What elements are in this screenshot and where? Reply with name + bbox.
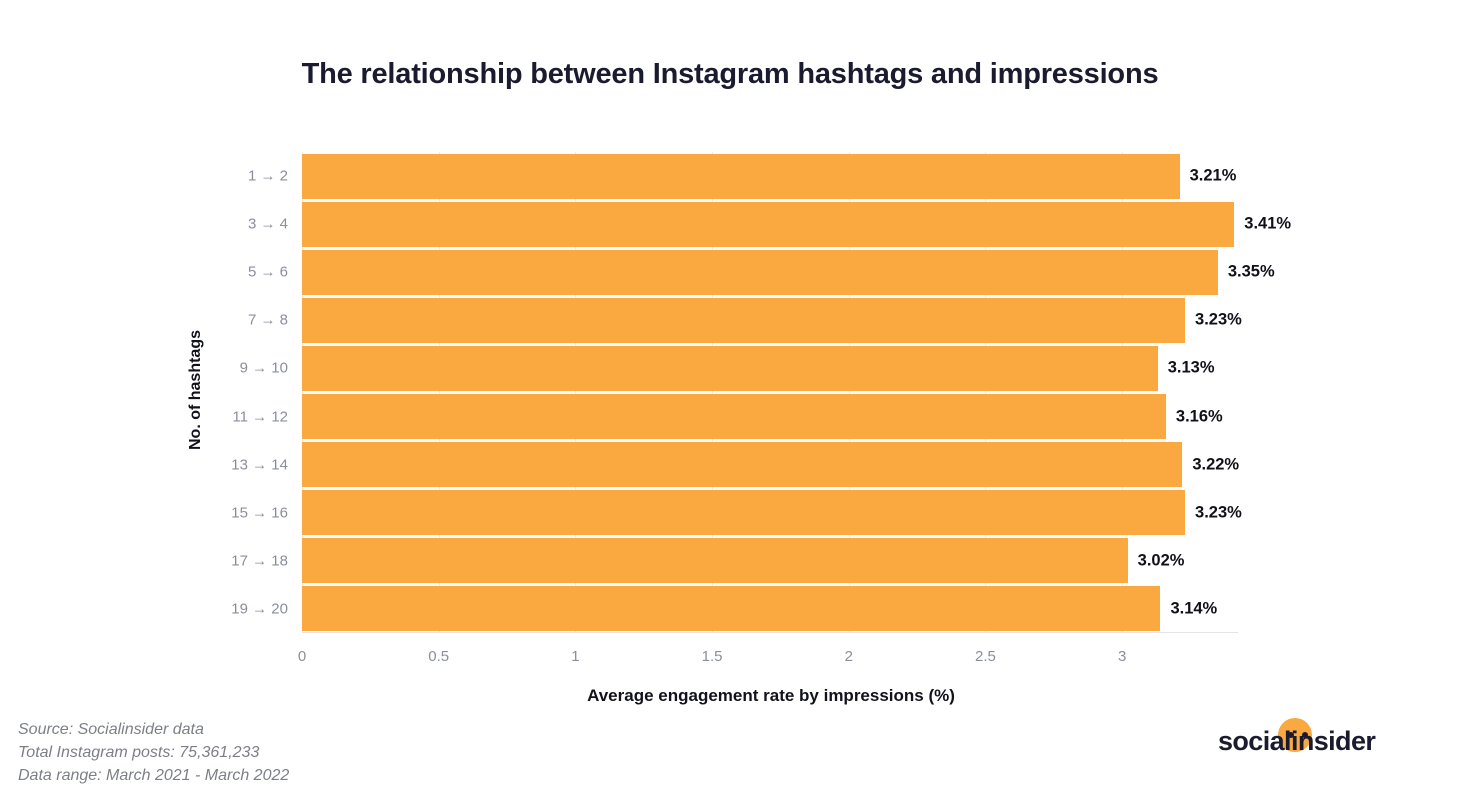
bar[interactable]: [302, 250, 1218, 295]
socialinsider-logo: socialinsider: [1218, 716, 1438, 772]
chart-canvas: No. of hashtags 3.21%3.41%3.35%3.23%3.13…: [0, 0, 1460, 800]
bar-value-label: 3.23%: [1195, 503, 1242, 522]
plot-area: 3.21%3.41%3.35%3.23%3.13%3.16%3.22%3.23%…: [302, 152, 1237, 633]
logo-wordmark: socialinsider: [1218, 726, 1375, 757]
bar-row[interactable]: 3.23%: [302, 298, 1237, 343]
bar-row[interactable]: 3.35%: [302, 250, 1237, 295]
bar-value-label: 3.13%: [1168, 359, 1215, 378]
footer-notes: Source: Socialinsider data Total Instagr…: [18, 718, 289, 787]
bar-row[interactable]: 3.22%: [302, 442, 1237, 487]
y-tick-label: 15 → 16: [88, 504, 288, 521]
bar[interactable]: [302, 394, 1166, 439]
bar-value-label: 3.02%: [1138, 551, 1185, 570]
bar-row[interactable]: 3.21%: [302, 154, 1237, 199]
y-tick-label: 1 → 2: [88, 168, 288, 185]
bar-row[interactable]: 3.23%: [302, 490, 1237, 535]
x-tick-label: 2: [845, 648, 853, 665]
x-tick-label: 1.5: [702, 648, 723, 665]
bar-value-label: 3.35%: [1228, 263, 1275, 282]
x-tick-label: 2.5: [975, 648, 996, 665]
bar-value-label: 3.23%: [1195, 311, 1242, 330]
y-tick-label: 7 → 8: [88, 312, 288, 329]
chart-page: The relationship between Instagram hasht…: [0, 0, 1460, 800]
x-tick-label: 0: [298, 648, 306, 665]
y-tick-label: 13 → 14: [88, 456, 288, 473]
bar-value-label: 3.16%: [1176, 407, 1223, 426]
bar[interactable]: [302, 538, 1128, 583]
footer-data-range: Data range: March 2021 - March 2022: [18, 764, 289, 787]
y-tick-label: 3 → 4: [88, 216, 288, 233]
bar-value-label: 3.14%: [1170, 599, 1217, 618]
bar-value-label: 3.22%: [1192, 455, 1239, 474]
y-axis-title: No. of hashtags: [187, 330, 205, 450]
bar[interactable]: [302, 586, 1160, 631]
x-axis-baseline: [302, 632, 1238, 633]
x-axis-title: Average engagement rate by impressions (…: [0, 686, 1460, 706]
y-tick-label: 5 → 6: [88, 264, 288, 281]
bar[interactable]: [302, 346, 1158, 391]
bar[interactable]: [302, 442, 1182, 487]
y-tick-label: 19 → 20: [88, 600, 288, 617]
footer-total-posts: Total Instagram posts: 75,361,233: [18, 741, 289, 764]
bar[interactable]: [302, 298, 1185, 343]
bar-row[interactable]: 3.41%: [302, 202, 1237, 247]
bar-row[interactable]: 3.16%: [302, 394, 1237, 439]
footer-source: Source: Socialinsider data: [18, 718, 289, 741]
x-tick-label: 0.5: [428, 648, 449, 665]
bar-row[interactable]: 3.02%: [302, 538, 1237, 583]
bar-value-label: 3.21%: [1190, 167, 1237, 186]
y-tick-label: 9 → 10: [88, 360, 288, 377]
x-tick-label: 1: [571, 648, 579, 665]
x-tick-label: 3: [1118, 648, 1126, 665]
bar[interactable]: [302, 490, 1185, 535]
bar[interactable]: [302, 202, 1234, 247]
bar-row[interactable]: 3.14%: [302, 586, 1237, 631]
bar-row[interactable]: 3.13%: [302, 346, 1237, 391]
y-tick-label: 11 → 12: [88, 408, 288, 425]
y-tick-label: 17 → 18: [88, 552, 288, 569]
bar[interactable]: [302, 154, 1180, 199]
bar-value-label: 3.41%: [1244, 215, 1291, 234]
